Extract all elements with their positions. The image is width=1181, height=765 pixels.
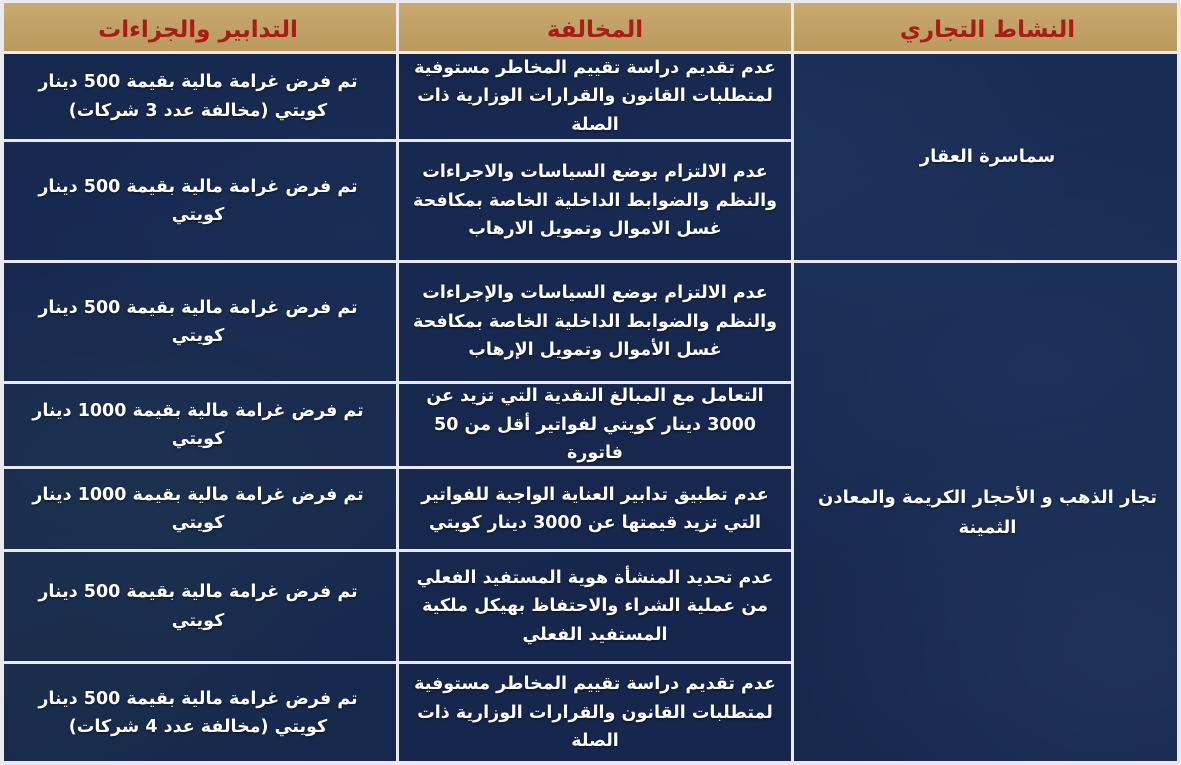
measure-text: تم فرض غرامة مالية بقيمة 500 دينار كويتي: [14, 173, 382, 230]
measure-cell: تم فرض غرامة مالية بقيمة 500 دينار كويتي: [0, 142, 396, 263]
measure-text: تم فرض غرامة مالية بقيمة 500 دينار كويتي…: [14, 68, 382, 125]
measure-cell: تم فرض غرامة مالية بقيمة 1000 دينار كويت…: [0, 384, 396, 469]
violation-cell: عدم تقديم دراسة تقييم المخاطر مستوفية لم…: [396, 664, 791, 762]
page-border-left: [0, 0, 4, 765]
violations-table-page: النشاط التجاري المخالفة التدابير والجزاء…: [0, 0, 1181, 765]
violation-cell: التعامل مع المبالغ النقدية التي تزيد عن …: [396, 384, 791, 469]
activity-cell-real-estate-brokers: سماسرة العقار: [791, 54, 1181, 263]
measure-cell: تم فرض غرامة مالية بقيمة 500 دينار كويتي: [0, 263, 396, 384]
measure-cell: تم فرض غرامة مالية بقيمة 1000 دينار كويت…: [0, 469, 396, 552]
measure-cell: تم فرض غرامة مالية بقيمة 500 دينار كويتي: [0, 552, 396, 664]
measure-text: تم فرض غرامة مالية بقيمة 500 دينار كويتي: [14, 294, 382, 351]
measure-text: تم فرض غرامة مالية بقيمة 500 دينار كويتي: [14, 578, 382, 635]
violation-cell: عدم تطبيق تدابير العناية الواجبة للفواتي…: [396, 469, 791, 552]
measure-cell: تم فرض غرامة مالية بقيمة 500 دينار كويتي…: [0, 664, 396, 762]
violation-cell: عدم تحديد المنشأة هوية المستفيد الفعلي م…: [396, 552, 791, 664]
activity-label: تجار الذهب و الأحجار الكريمة والمعادن ال…: [808, 483, 1167, 541]
page-border-bottom: [0, 761, 1181, 765]
violation-text: عدم تقديم دراسة تقييم المخاطر مستوفية لم…: [413, 54, 777, 139]
measure-text: تم فرض غرامة مالية بقيمة 1000 دينار كويت…: [14, 397, 382, 454]
violation-cell: عدم تقديم دراسة تقييم المخاطر مستوفية لم…: [396, 54, 791, 142]
violation-cell: عدم الالتزام بوضع السياسات والإجراءات وا…: [396, 263, 791, 384]
violation-text: عدم تحديد المنشأة هوية المستفيد الفعلي م…: [413, 564, 777, 649]
measure-text: تم فرض غرامة مالية بقيمة 1000 دينار كويت…: [14, 481, 382, 538]
activity-cell-gold-traders: تجار الذهب و الأحجار الكريمة والمعادن ال…: [791, 263, 1181, 762]
column-header-activity: النشاط التجاري: [791, 0, 1181, 54]
violation-text: التعامل مع المبالغ النقدية التي تزيد عن …: [413, 382, 777, 467]
activity-label: سماسرة العقار: [808, 142, 1167, 171]
violation-text: عدم الالتزام بوضع السياسات والإجراءات وا…: [413, 279, 777, 364]
violations-table: النشاط التجاري المخالفة التدابير والجزاء…: [0, 0, 1181, 765]
violation-cell: عدم الالتزام بوضع السياسات والاجراءات وا…: [396, 142, 791, 263]
violation-text: عدم تطبيق تدابير العناية الواجبة للفواتي…: [413, 481, 777, 538]
column-header-measures: التدابير والجزاءات: [0, 0, 396, 54]
page-border-right: [1177, 0, 1181, 765]
violation-text: عدم تقديم دراسة تقييم المخاطر مستوفية لم…: [413, 670, 777, 755]
violation-text: عدم الالتزام بوضع السياسات والاجراءات وا…: [413, 158, 777, 243]
measure-text: تم فرض غرامة مالية بقيمة 500 دينار كويتي…: [14, 685, 382, 742]
measure-cell: تم فرض غرامة مالية بقيمة 500 دينار كويتي…: [0, 54, 396, 142]
column-header-violation: المخالفة: [396, 0, 791, 54]
